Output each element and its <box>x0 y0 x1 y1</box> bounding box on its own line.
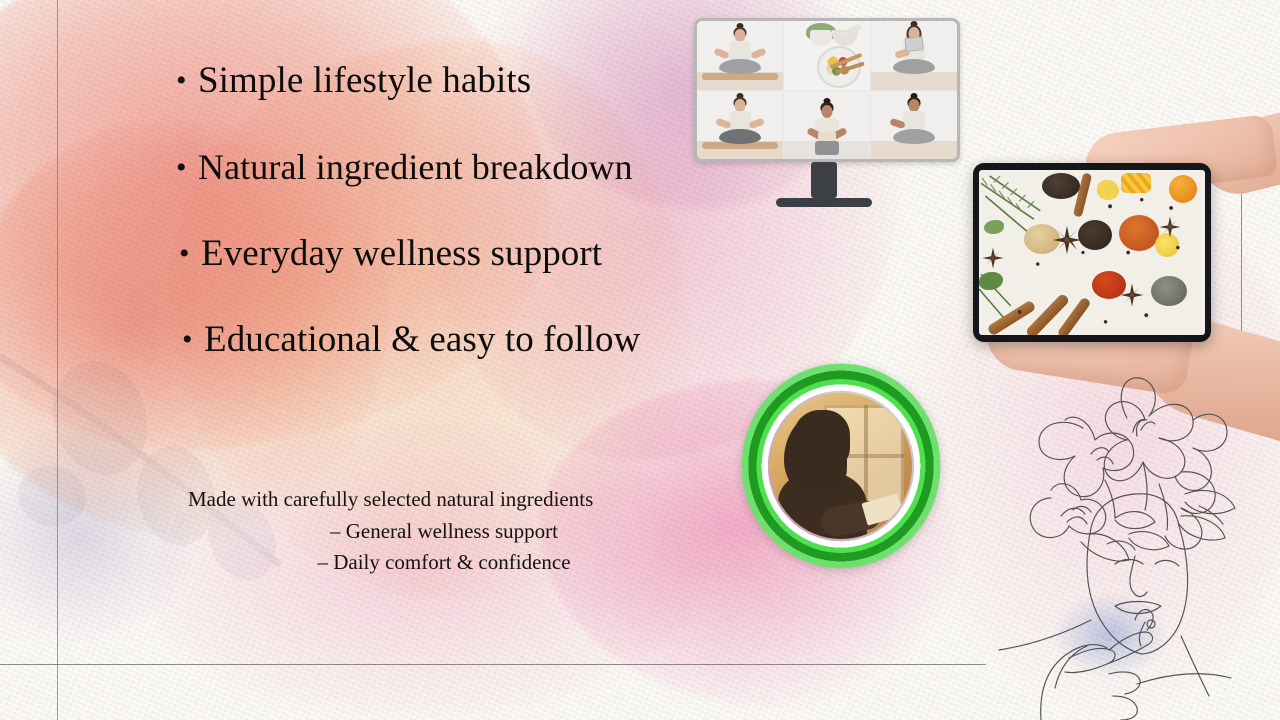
bullet-dot-icon: • <box>179 239 201 269</box>
tablet-screen-spices <box>979 170 1205 335</box>
bullet-label-2: Natural ingredient breakdown <box>198 149 633 187</box>
monitor-tile-6 <box>871 91 957 160</box>
bullet-label-3: Everyday wellness support <box>201 235 602 274</box>
supporting-text-line-3: – Daily comfort & confidence <box>188 547 700 579</box>
monitor-tile-5 <box>784 91 870 160</box>
bullet-dot-icon: • <box>182 325 204 355</box>
bullet-dot-icon: • <box>176 66 198 96</box>
supporting-text-block: Made with carefully selected natural ing… <box>188 484 700 579</box>
desktop-monitor-image <box>694 18 954 207</box>
circular-framed-photo <box>738 360 944 572</box>
monitor-tile-4 <box>697 91 783 160</box>
monitor-screen <box>694 18 960 162</box>
tablet-device <box>973 163 1211 342</box>
circular-photo-inner <box>770 393 912 539</box>
monitor-stand-neck <box>811 162 837 198</box>
monitor-stand-base <box>776 198 872 207</box>
monitor-tile-3 <box>871 21 957 90</box>
bullet-item-3: • Everyday wellness support <box>179 235 796 274</box>
monitor-tile-1 <box>697 21 783 90</box>
guide-line-vertical-left <box>57 0 58 720</box>
guide-line-horizontal-bottom <box>0 664 986 665</box>
monitor-tile-2 <box>784 21 870 90</box>
supporting-text-line-1: Made with carefully selected natural ing… <box>188 484 700 516</box>
bullet-dot-icon: • <box>176 153 198 183</box>
floral-woman-lineart <box>995 358 1280 720</box>
bullet-label-4: Educational & easy to follow <box>204 321 640 360</box>
bullet-item-4: • Educational & easy to follow <box>182 321 796 360</box>
supporting-text-line-2: – General wellness support <box>188 516 700 548</box>
bullet-label-1: Simple lifestyle habits <box>198 62 531 101</box>
slide-canvas: • Simple lifestyle habits • Natural ingr… <box>0 0 1280 720</box>
